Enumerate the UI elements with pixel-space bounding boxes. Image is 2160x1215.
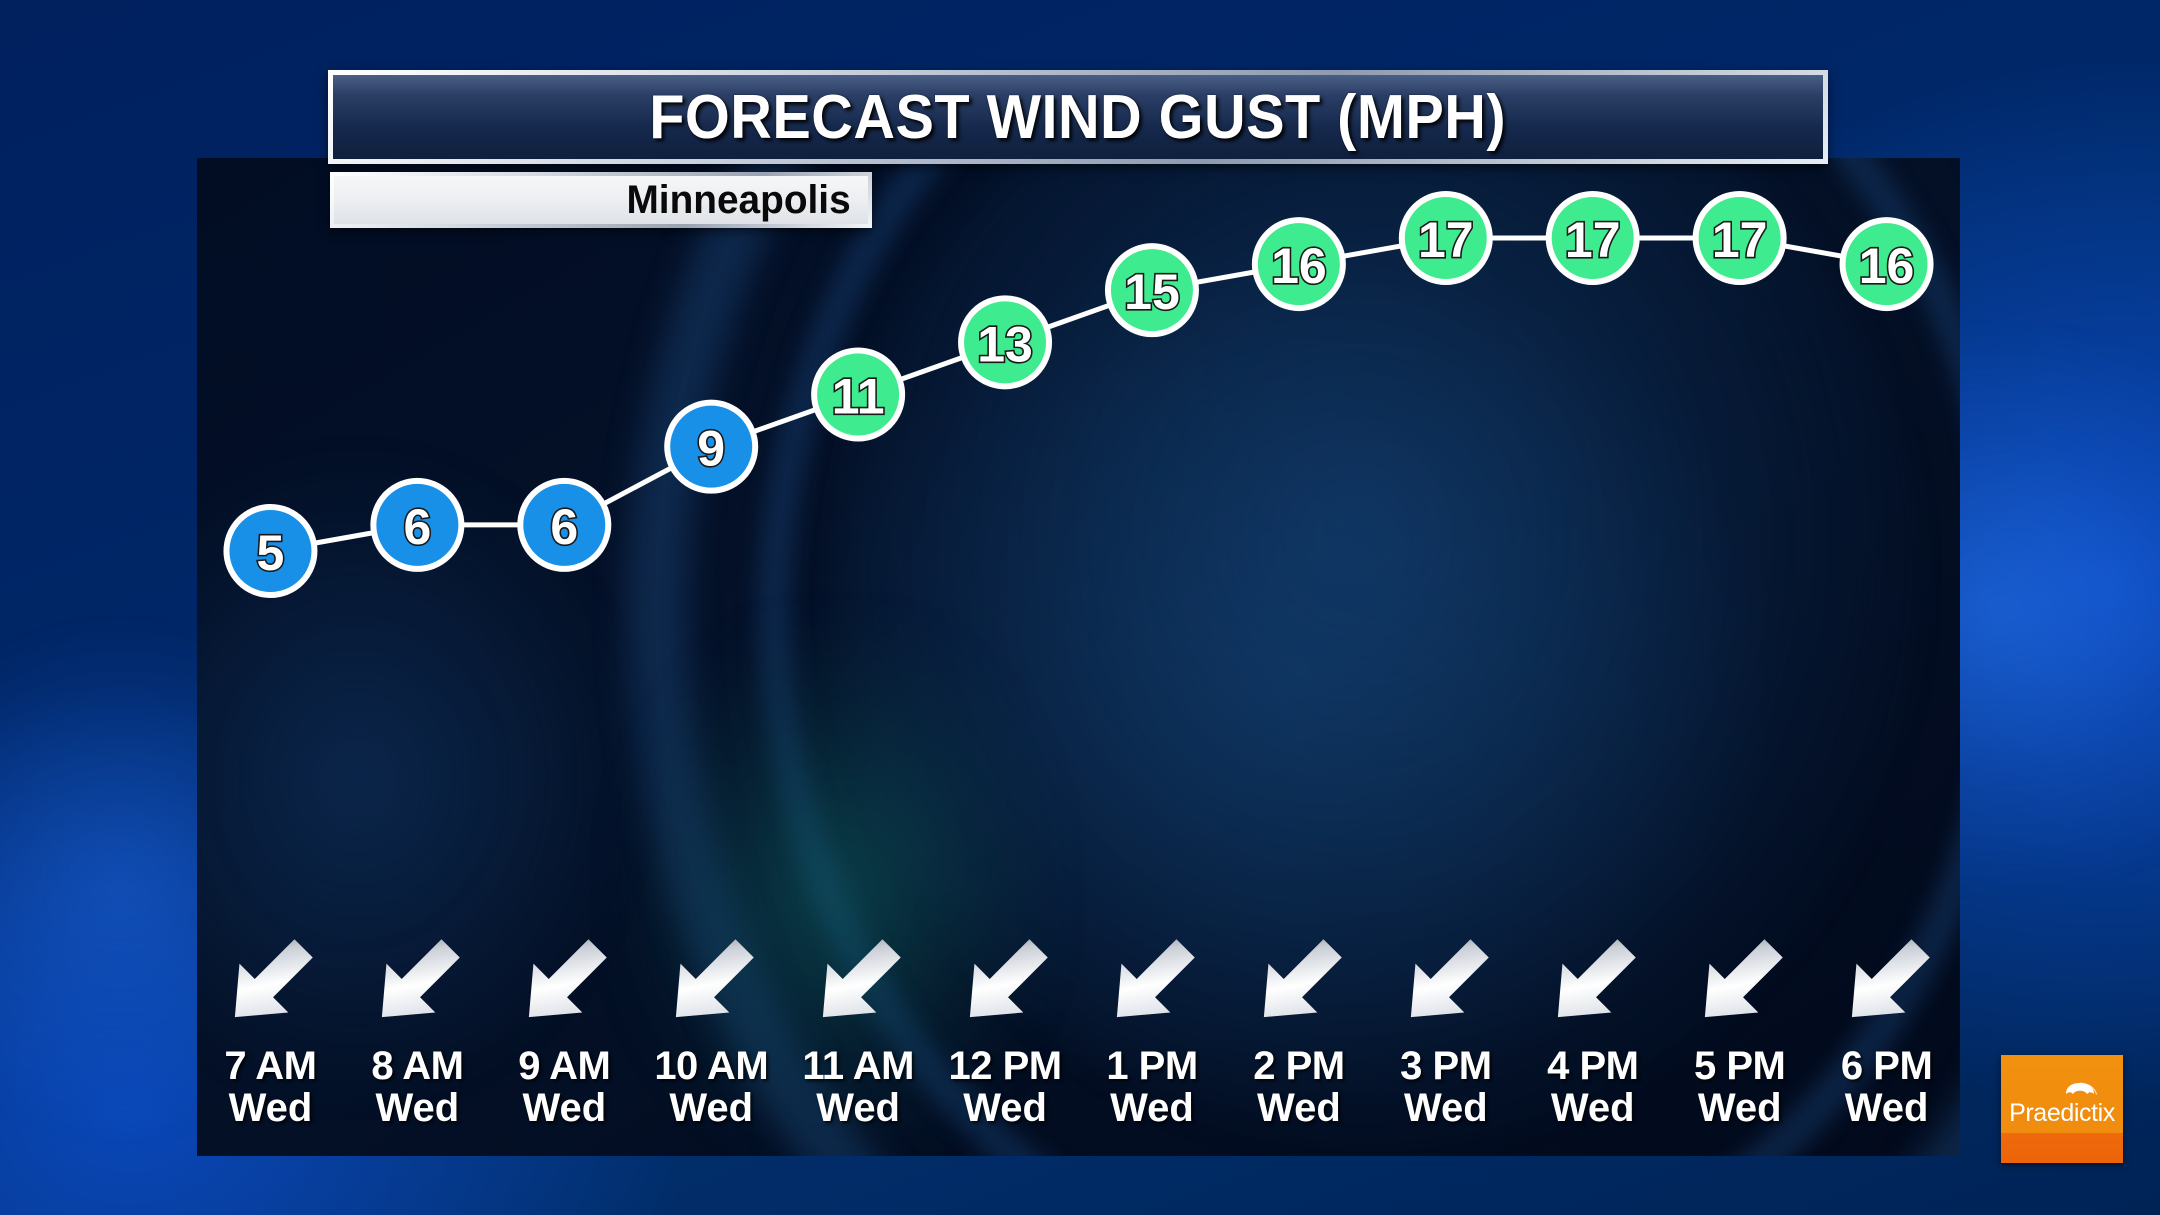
data-point-value: 13 xyxy=(977,316,1033,372)
x-axis-day-label: Wed xyxy=(1110,1087,1194,1130)
x-axis-time-label: 5 PM xyxy=(1694,1046,1785,1087)
x-axis-tick: 11 AMWed xyxy=(785,928,932,1130)
x-axis-day-label: Wed xyxy=(1404,1087,1488,1130)
x-axis-tick: 5 PMWed xyxy=(1666,928,1813,1130)
page-title: FORECAST WIND GUST (MPH) xyxy=(650,82,1507,153)
weather-graphic: 56691113151617171716 7 AMWed8 AMWed9 AMW… xyxy=(0,0,2160,1215)
x-axis-time-label: 3 PM xyxy=(1400,1046,1491,1087)
arrow-southeast-icon xyxy=(1392,928,1500,1036)
arrow-southeast-icon xyxy=(804,928,912,1036)
data-point[interactable]: 16 xyxy=(1843,220,1931,308)
data-point[interactable]: 15 xyxy=(1108,246,1196,334)
x-axis-time-label: 7 AM xyxy=(224,1046,316,1087)
x-axis-tick: 2 PMWed xyxy=(1225,928,1372,1130)
arrow-southeast-icon xyxy=(1833,928,1941,1036)
data-point-value: 15 xyxy=(1124,264,1180,320)
x-axis-tick: 7 AMWed xyxy=(197,928,344,1130)
x-axis-tick: 6 PMWed xyxy=(1813,928,1960,1130)
arrow-southeast-icon xyxy=(1686,928,1794,1036)
x-axis-tick: 10 AMWed xyxy=(638,928,785,1130)
x-axis-time-label: 10 AM xyxy=(654,1046,768,1087)
x-axis-day-label: Wed xyxy=(816,1087,900,1130)
x-axis-day-label: Wed xyxy=(669,1087,753,1130)
arrow-southeast-icon xyxy=(1539,928,1647,1036)
x-axis-time-label: 12 PM xyxy=(949,1046,1062,1087)
x-axis-tick: 1 PMWed xyxy=(1079,928,1226,1130)
data-point-value: 17 xyxy=(1418,212,1474,268)
data-point-value: 16 xyxy=(1271,238,1327,294)
data-point[interactable]: 13 xyxy=(961,298,1049,386)
x-axis-time-label: 1 PM xyxy=(1106,1046,1197,1087)
data-point[interactable]: 11 xyxy=(814,351,902,439)
x-axis: 7 AMWed8 AMWed9 AMWed10 AMWed11 AMWed12 … xyxy=(197,928,1960,1130)
series-connector-lines xyxy=(270,238,1886,551)
x-axis-time-label: 11 AM xyxy=(802,1046,914,1087)
x-axis-tick: 3 PMWed xyxy=(1372,928,1519,1130)
data-point-value: 16 xyxy=(1859,238,1915,294)
x-axis-day-label: Wed xyxy=(229,1087,313,1130)
data-point-value: 6 xyxy=(403,499,431,555)
data-point[interactable]: 17 xyxy=(1402,194,1490,282)
data-point-value: 9 xyxy=(697,421,725,477)
x-axis-tick: 8 AMWed xyxy=(344,928,491,1130)
arrow-southeast-icon xyxy=(951,928,1059,1036)
data-point-value: 5 xyxy=(257,525,285,581)
data-point-value: 17 xyxy=(1565,212,1621,268)
location-label: Minneapolis xyxy=(626,178,850,223)
data-point[interactable]: 6 xyxy=(520,481,608,569)
chart-panel: 56691113151617171716 7 AMWed8 AMWed9 AMW… xyxy=(197,158,1960,1156)
x-axis-tick: 9 AMWed xyxy=(491,928,638,1130)
data-point-value: 17 xyxy=(1712,212,1768,268)
data-point[interactable]: 17 xyxy=(1696,194,1784,282)
arrow-southeast-icon xyxy=(1245,928,1353,1036)
x-axis-tick: 12 PMWed xyxy=(932,928,1079,1130)
location-bar: Minneapolis xyxy=(330,172,872,228)
arrow-southeast-icon xyxy=(216,928,324,1036)
data-point[interactable]: 6 xyxy=(373,481,461,569)
arrow-southeast-icon xyxy=(510,928,618,1036)
x-axis-time-label: 9 AM xyxy=(518,1046,610,1087)
arrow-southeast-icon xyxy=(1098,928,1206,1036)
x-axis-time-label: 2 PM xyxy=(1253,1046,1344,1087)
x-axis-tick: 4 PMWed xyxy=(1519,928,1666,1130)
x-axis-time-label: 4 PM xyxy=(1547,1046,1638,1087)
arrow-southeast-icon xyxy=(363,928,471,1036)
x-axis-day-label: Wed xyxy=(376,1087,460,1130)
data-point[interactable]: 9 xyxy=(667,403,755,491)
x-axis-day-label: Wed xyxy=(1698,1087,1782,1130)
data-point[interactable]: 5 xyxy=(226,507,314,595)
arrow-southeast-icon xyxy=(657,928,765,1036)
logo-label: Praedictix xyxy=(2001,1099,2123,1128)
series-data-points: 56691113151617171716 xyxy=(226,194,1930,595)
x-axis-day-label: Wed xyxy=(963,1087,1047,1130)
x-axis-time-label: 6 PM xyxy=(1841,1046,1932,1087)
data-point-value: 6 xyxy=(550,499,578,555)
x-axis-day-label: Wed xyxy=(1257,1087,1341,1130)
data-point[interactable]: 17 xyxy=(1549,194,1637,282)
data-point[interactable]: 16 xyxy=(1255,220,1343,308)
x-axis-day-label: Wed xyxy=(1845,1087,1929,1130)
x-axis-time-label: 8 AM xyxy=(371,1046,463,1087)
data-point-value: 11 xyxy=(832,369,885,425)
praedictix-logo[interactable]: Praedictix xyxy=(2001,1055,2123,1163)
x-axis-day-label: Wed xyxy=(1551,1087,1635,1130)
title-bar: FORECAST WIND GUST (MPH) xyxy=(328,70,1828,164)
x-axis-day-label: Wed xyxy=(522,1087,606,1130)
